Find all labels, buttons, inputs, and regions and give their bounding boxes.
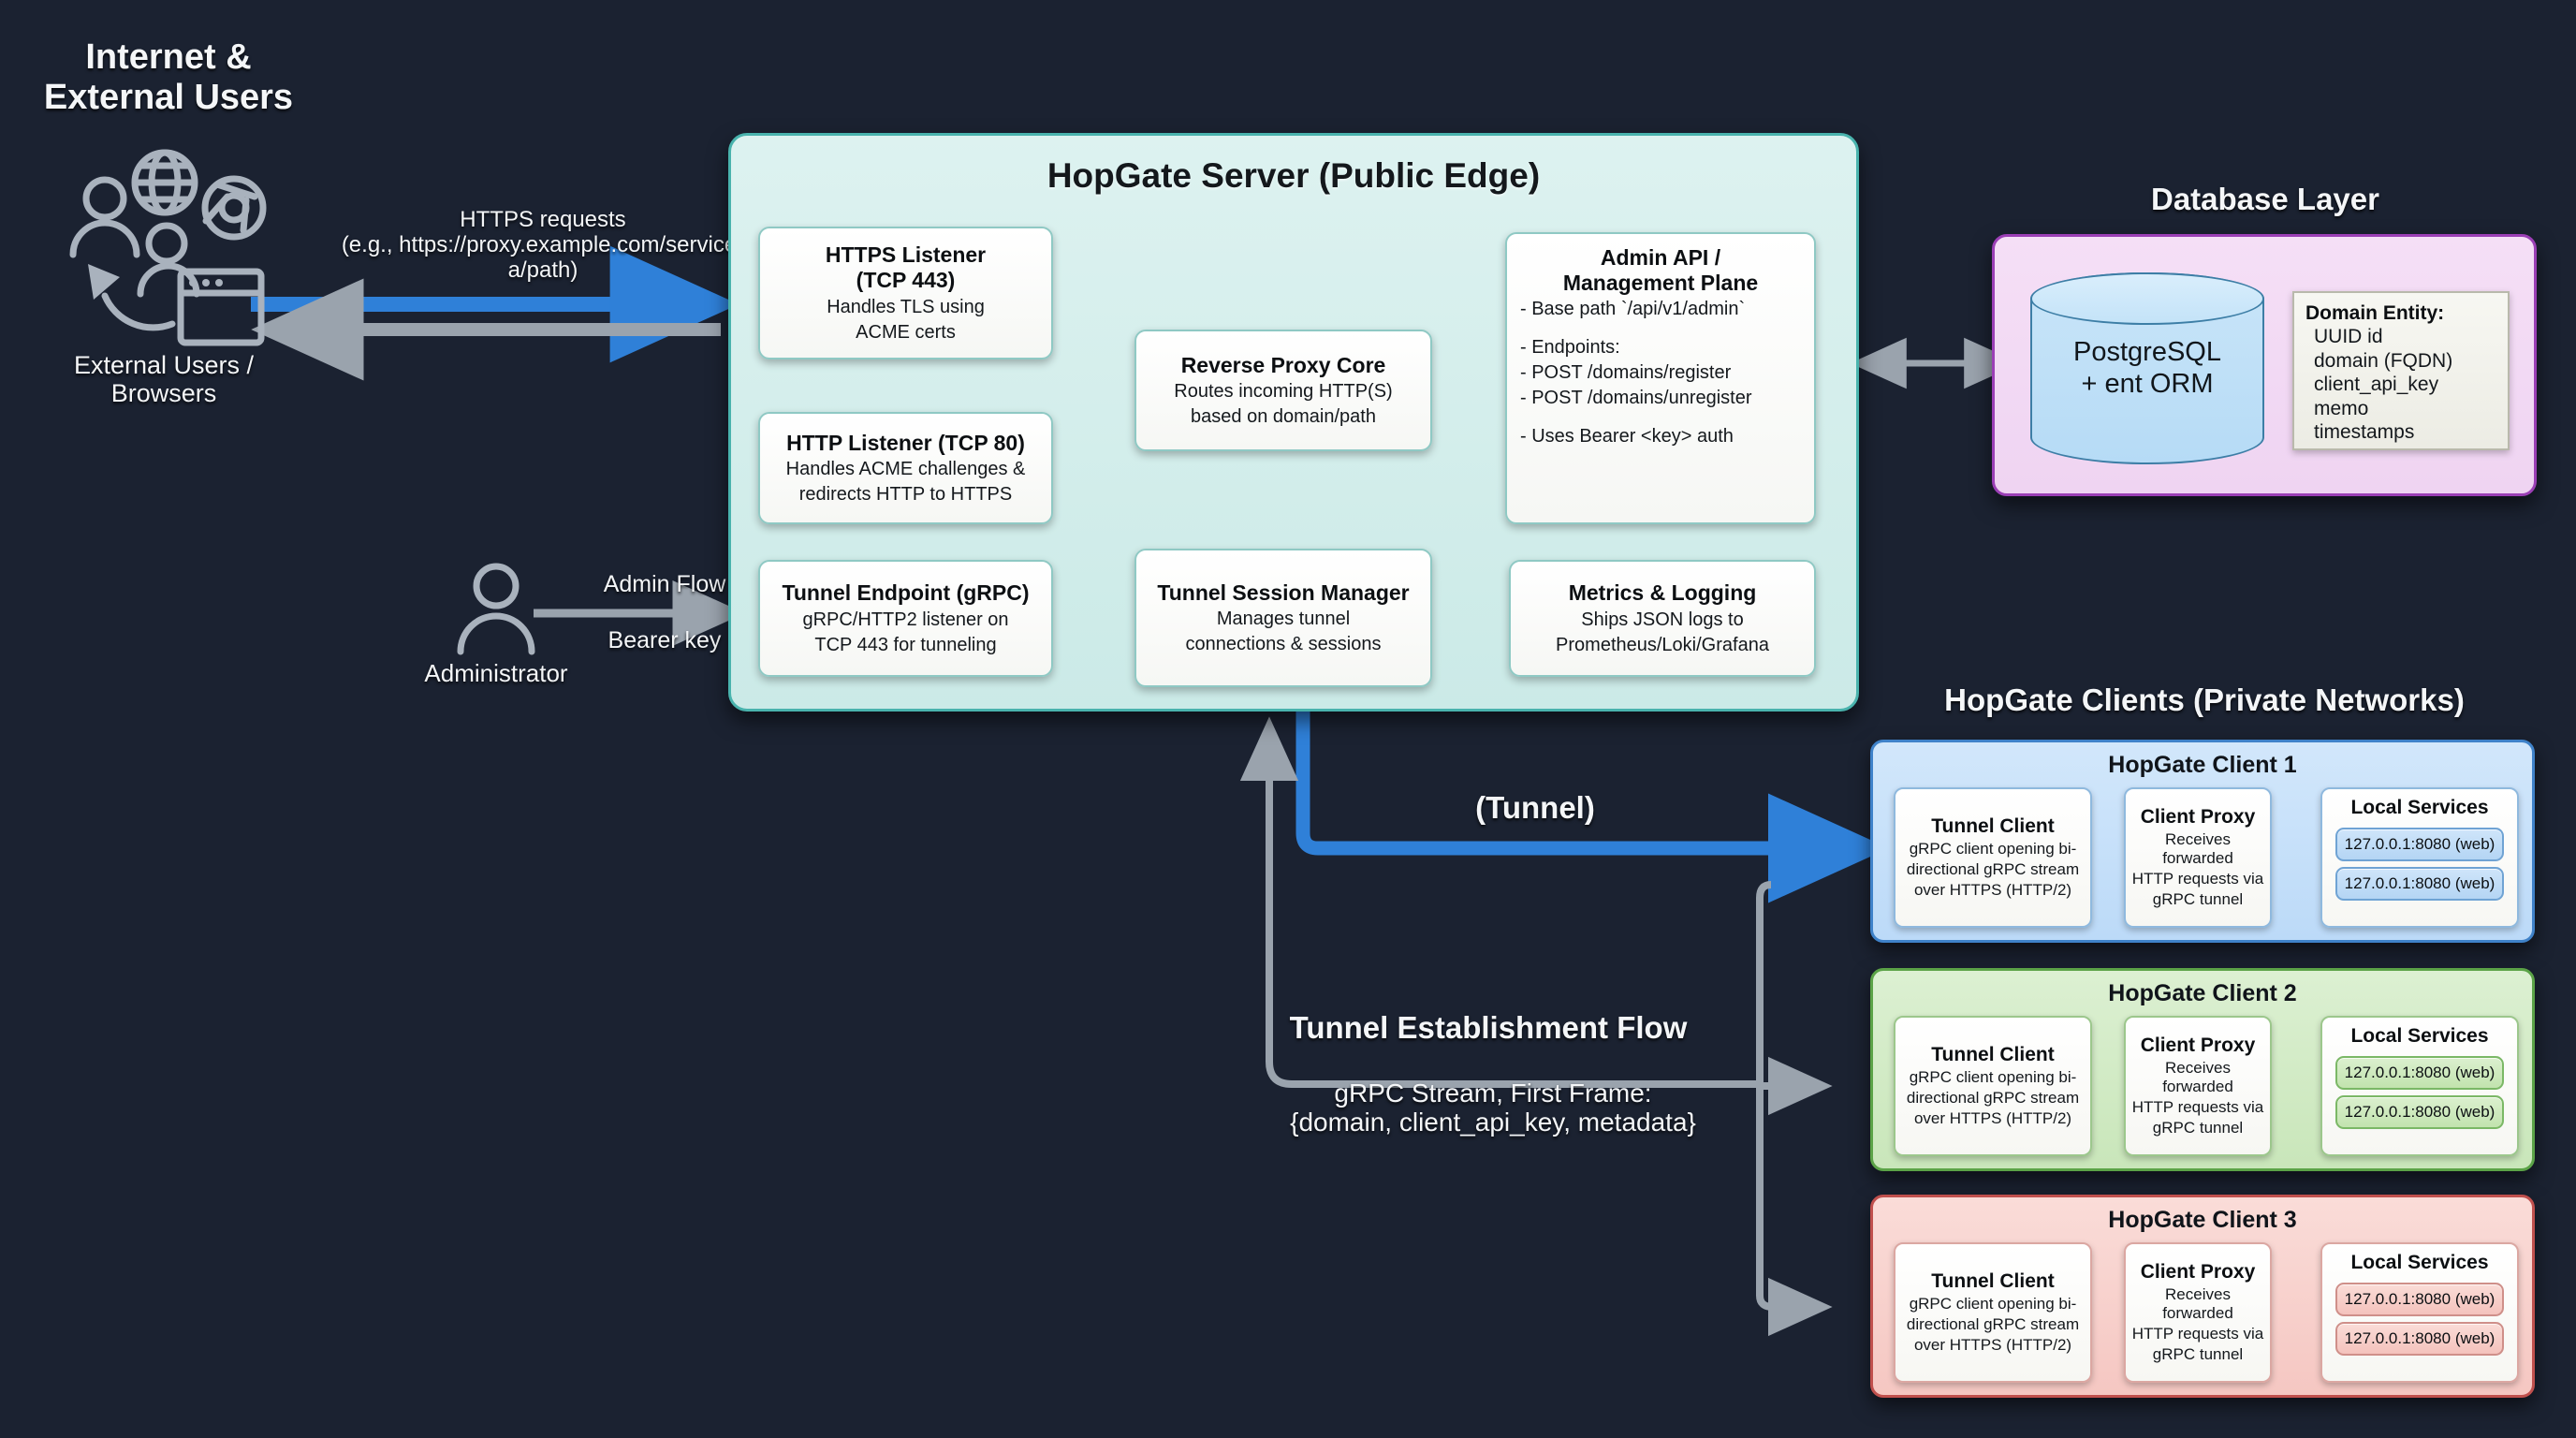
database-section-title: Database Layer <box>1984 183 2546 217</box>
client-3-client-proxy[interactable]: Client Proxy Receives forwarded HTTP req… <box>2124 1242 2272 1383</box>
client-2-tunnel-client[interactable]: Tunnel Client gRPC client opening bi- di… <box>1894 1016 2092 1156</box>
metrics-sub-line1: Ships JSON logs to <box>1581 609 1743 631</box>
client-proxy-line1: Receives forwarded <box>2131 1059 2264 1096</box>
client-proxy-line3: gRPC tunnel <box>2153 1345 2243 1364</box>
client-2-client-proxy[interactable]: Client Proxy Receives forwarded HTTP req… <box>2124 1016 2272 1156</box>
external-users-caption-line1: External Users / <box>0 351 328 379</box>
tunnel-client-line2: directional gRPC stream <box>1907 1089 2079 1108</box>
client-proxy-line1: Receives forwarded <box>2131 1285 2264 1323</box>
client-proxy-line3: gRPC tunnel <box>2153 890 2243 909</box>
https-listener-sub-line2: ACME certs <box>856 321 956 344</box>
admin-api-base-path: - Base path `/api/v1/admin` <box>1520 298 1745 320</box>
local-service-item[interactable]: 127.0.0.1:8080 (web) <box>2335 1322 2504 1356</box>
tunnel-client-line1: gRPC client opening bi- <box>1910 1068 2077 1087</box>
domain-entity-field-id: UUID id <box>2305 325 2496 349</box>
postgres-label: PostgreSQL + ent ORM <box>2073 337 2221 400</box>
client-card-3[interactable]: HopGate Client 3 Tunnel Client gRPC clie… <box>1870 1195 2535 1398</box>
node-admin-api[interactable]: Admin API / Management Plane - Base path… <box>1505 232 1816 524</box>
client-3-local-services[interactable]: Local Services 127.0.0.1:8080 (web) 127.… <box>2320 1242 2519 1383</box>
local-service-item[interactable]: 127.0.0.1:8080 (web) <box>2335 828 2504 861</box>
external-users-caption: External Users / Browsers <box>0 351 328 407</box>
client-2-local-services[interactable]: Local Services 127.0.0.1:8080 (web) 127.… <box>2320 1016 2519 1156</box>
domain-entity-heading: Domain Entity: <box>2305 302 2496 325</box>
client-card-1[interactable]: HopGate Client 1 Tunnel Client gRPC clie… <box>1870 740 2535 943</box>
postgres-line1: PostgreSQL <box>2073 337 2221 368</box>
tunnel-client-line3: over HTTPS (HTTP/2) <box>1914 1336 2071 1355</box>
internet-title-line2: External Users <box>0 78 337 118</box>
https-listener-sub-line1: Handles TLS using <box>827 296 985 318</box>
client-1-local-services[interactable]: Local Services 127.0.0.1:8080 (web) 127.… <box>2320 787 2519 928</box>
tunnel-client-line2: directional gRPC stream <box>1907 860 2079 879</box>
wire-users-to-https <box>251 304 721 330</box>
http-listener-title: HTTP Listener (TCP 80) <box>786 431 1025 456</box>
tunnel-client-title: Tunnel Client <box>1931 1044 2054 1066</box>
server-title: HopGate Server (Public Edge) <box>731 156 1856 196</box>
tunnel-client-title: Tunnel Client <box>1931 1270 2054 1293</box>
client-proxy-title: Client Proxy <box>2141 1034 2256 1057</box>
node-tunnel-session-manager[interactable]: Tunnel Session Manager Manages tunnel co… <box>1134 549 1432 687</box>
node-http-listener[interactable]: HTTP Listener (TCP 80) Handles ACME chal… <box>758 412 1053 524</box>
tunnel-endpoint-sub-line1: gRPC/HTTP2 listener on <box>802 609 1008 631</box>
reverse-proxy-sub-line1: Routes incoming HTTP(S) <box>1174 380 1392 403</box>
client-2-title: HopGate Client 2 <box>1873 980 2532 1007</box>
local-service-item[interactable]: 127.0.0.1:8080 (web) <box>2335 1095 2504 1129</box>
metrics-title: Metrics & Logging <box>1569 580 1757 606</box>
https-requests-line1: HTTPS requests <box>309 208 777 233</box>
client-3-title: HopGate Client 3 <box>1873 1207 2532 1234</box>
browser-icon <box>181 271 261 343</box>
tunnel-endpoint-sub-line2: TCP 443 for tunneling <box>814 634 996 656</box>
tunnel-client-line3: over HTTPS (HTTP/2) <box>1914 1109 2071 1128</box>
node-reverse-proxy-core[interactable]: Reverse Proxy Core Routes incoming HTTP(… <box>1134 330 1432 451</box>
reverse-proxy-title: Reverse Proxy Core <box>1181 353 1386 378</box>
wire-tunnel-establishment <box>1760 885 1823 1307</box>
client-card-2[interactable]: HopGate Client 2 Tunnel Client gRPC clie… <box>1870 968 2535 1171</box>
client-1-title: HopGate Client 1 <box>1873 752 2532 779</box>
node-tunnel-endpoint[interactable]: Tunnel Endpoint (gRPC) gRPC/HTTP2 listen… <box>758 560 1053 677</box>
database-layer-container: PostgreSQL + ent ORM Domain Entity: UUID… <box>1992 234 2537 496</box>
https-requests-label: HTTPS requests (e.g., https://proxy.exam… <box>309 208 777 284</box>
client-proxy-line2: HTTP requests via <box>2132 1098 2263 1117</box>
http-listener-sub-line1: Handles ACME challenges & <box>786 458 1026 480</box>
local-service-item[interactable]: 127.0.0.1:8080 (web) <box>2335 867 2504 901</box>
client-3-tunnel-client[interactable]: Tunnel Client gRPC client opening bi- di… <box>1894 1242 2092 1383</box>
postgres-cylinder[interactable]: PostgreSQL + ent ORM <box>2030 272 2264 464</box>
session-manager-sub-line1: Manages tunnel <box>1217 608 1350 630</box>
client-proxy-line1: Receives forwarded <box>2131 830 2264 868</box>
https-requests-line2: (e.g., https://proxy.example.com/service… <box>309 233 777 284</box>
https-listener-title-line1: HTTPS Listener <box>826 242 986 268</box>
https-listener-title-line2: (TCP 443) <box>856 268 956 293</box>
refresh-arrow-icon <box>88 264 172 328</box>
establishment-line1: gRPC Stream, First Frame: <box>1264 1078 1722 1108</box>
domain-entity-field-memo: memo <box>2305 397 2496 421</box>
http-listener-sub-line2: redirects HTTP to HTTPS <box>799 483 1012 506</box>
tunnel-flow-label: (Tunnel) <box>1395 791 1676 826</box>
administrator-icon <box>449 560 543 663</box>
domain-entity-note: Domain Entity: UUID id domain (FQDN) cli… <box>2292 291 2510 450</box>
clients-section-title: HopGate Clients (Private Networks) <box>1835 683 2574 718</box>
chrome-icon <box>205 179 263 237</box>
client-proxy-title: Client Proxy <box>2141 806 2256 829</box>
admin-api-endpoint-register: - POST /domains/register <box>1520 361 1731 384</box>
local-services-title: Local Services <box>2350 1025 2488 1048</box>
client-1-client-proxy[interactable]: Client Proxy Receives forwarded HTTP req… <box>2124 787 2272 928</box>
node-https-listener[interactable]: HTTPS Listener (TCP 443) Handles TLS usi… <box>758 227 1053 359</box>
client-proxy-line2: HTTP requests via <box>2132 1325 2263 1343</box>
local-service-item[interactable]: 127.0.0.1:8080 (web) <box>2335 1283 2504 1316</box>
client-proxy-line3: gRPC tunnel <box>2153 1119 2243 1137</box>
reverse-proxy-sub-line2: based on domain/path <box>1191 405 1376 428</box>
session-manager-title: Tunnel Session Manager <box>1157 580 1409 606</box>
domain-entity-field-api-key: client_api_key <box>2305 373 2496 397</box>
domain-entity-field-domain: domain (FQDN) <box>2305 349 2496 374</box>
tunnel-establishment-title: Tunnel Establishment Flow <box>1254 1011 1722 1046</box>
administrator-caption: Administrator <box>398 660 594 687</box>
tunnel-establishment-sub: gRPC Stream, First Frame: {domain, clien… <box>1264 1078 1722 1137</box>
client-proxy-line2: HTTP requests via <box>2132 870 2263 888</box>
node-metrics-logging[interactable]: Metrics & Logging Ships JSON logs to Pro… <box>1509 560 1816 677</box>
globe-icon <box>135 153 195 213</box>
external-users-caption-line2: Browsers <box>0 379 328 407</box>
metrics-sub-line2: Prometheus/Loki/Grafana <box>1556 634 1769 656</box>
admin-api-endpoints-label: - Endpoints: <box>1520 336 1620 359</box>
wire-tunnel-blue <box>1303 712 1872 848</box>
tunnel-client-line1: gRPC client opening bi- <box>1910 840 2077 858</box>
tunnel-client-line3: over HTTPS (HTTP/2) <box>1914 881 2071 900</box>
diagram-canvas: Internet & External Users <box>0 0 2576 1438</box>
admin-api-endpoint-unregister: - POST /domains/unregister <box>1520 387 1752 409</box>
client-proxy-title: Client Proxy <box>2141 1261 2256 1284</box>
tunnel-client-line1: gRPC client opening bi- <box>1910 1295 2077 1313</box>
admin-api-title-line1: Admin API / <box>1520 245 1801 271</box>
client-1-tunnel-client[interactable]: Tunnel Client gRPC client opening bi- di… <box>1894 787 2092 928</box>
admin-api-auth: - Uses Bearer <key> auth <box>1520 425 1734 448</box>
internet-section-title: Internet & External Users <box>0 37 337 117</box>
tunnel-client-line2: directional gRPC stream <box>1907 1315 2079 1334</box>
postgres-line2: + ent ORM <box>2073 369 2221 400</box>
tunnel-client-title: Tunnel Client <box>1931 815 2054 838</box>
domain-entity-field-timestamps: timestamps <box>2305 420 2496 445</box>
local-service-item[interactable]: 127.0.0.1:8080 (web) <box>2335 1056 2504 1090</box>
establishment-line2: {domain, client_api_key, metadata} <box>1264 1108 1722 1137</box>
admin-api-title-line2: Management Plane <box>1520 271 1801 296</box>
external-users-icon-group <box>56 140 300 384</box>
tunnel-endpoint-title: Tunnel Endpoint (gRPC) <box>782 580 1029 606</box>
local-services-title: Local Services <box>2350 1252 2488 1274</box>
local-services-title: Local Services <box>2350 797 2488 819</box>
session-manager-sub-line2: connections & sessions <box>1185 633 1381 655</box>
internet-title-line1: Internet & <box>0 37 337 78</box>
